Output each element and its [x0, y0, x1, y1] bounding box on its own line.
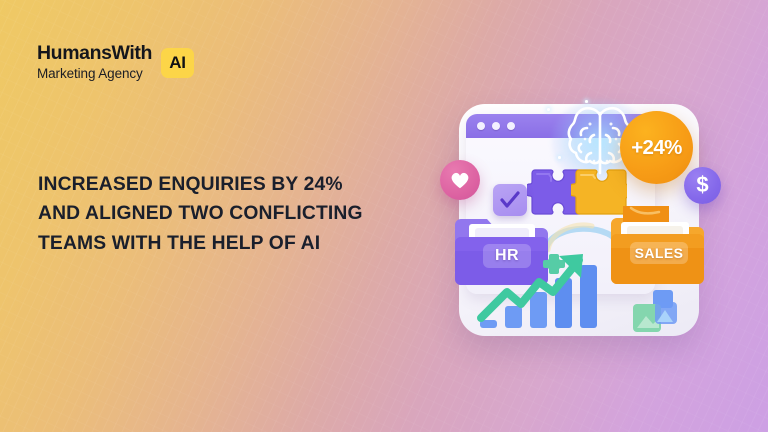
logo-text-block: HumansWith Marketing Agency: [37, 44, 152, 80]
headline-line-1: INCREASED ENQUIRIES BY 24%: [38, 170, 438, 199]
percent-increase-badge: +24%: [620, 111, 693, 184]
browser-dot-1: [477, 122, 485, 130]
image-blocks-icon: [633, 290, 681, 332]
heart-badge: [440, 160, 480, 200]
sparkle-icon: [547, 108, 550, 111]
heart-icon: [450, 171, 470, 190]
slide-canvas: HumansWith Marketing Agency AI INCREASED…: [0, 0, 768, 432]
logo-company-name: HumansWith: [37, 44, 152, 64]
brand-logo[interactable]: HumansWith Marketing Agency AI: [37, 44, 194, 80]
illustration: HR SALES: [455, 104, 707, 338]
sparkle-icon: [558, 156, 561, 159]
dollar-badge: $: [684, 167, 721, 204]
sparkle-icon: [585, 100, 588, 103]
trending-up-arrow-icon: [477, 244, 601, 326]
folder-sales-label: SALES: [630, 242, 688, 264]
headline-line-3: TEAMS WITH THE HELP OF AI: [38, 229, 438, 258]
logo-ai-badge: AI: [161, 48, 194, 78]
headline: INCREASED ENQUIRIES BY 24% AND ALIGNED T…: [38, 170, 438, 258]
browser-dot-2: [492, 122, 500, 130]
logo-tagline: Marketing Agency: [37, 67, 152, 81]
browser-dot-3: [507, 122, 515, 130]
headline-line-2: AND ALIGNED TWO CONFLICTING: [38, 199, 438, 228]
